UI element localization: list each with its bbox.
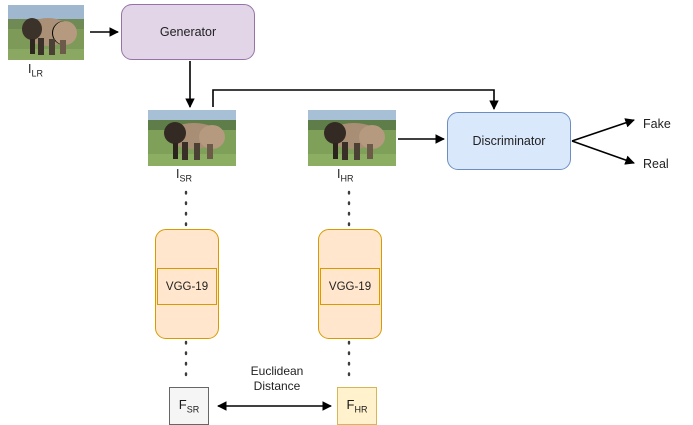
generator-node[interactable]: Generator <box>121 4 255 60</box>
vgg-sr-label: VGG-19 <box>166 281 208 293</box>
euclidean-distance-label: Euclidean Distance <box>229 364 325 394</box>
image-caption-ilr: ILR <box>28 62 43 79</box>
image-caption-isr: ISR <box>176 167 192 184</box>
vgg-hr-node[interactable]: VGG-19 <box>320 268 380 305</box>
feature-sr-label: FSR <box>179 397 199 415</box>
edge-discriminator-to-real <box>572 141 634 163</box>
feature-sr-subscript: SR <box>187 405 200 415</box>
image-thumbnail-isr <box>148 110 236 166</box>
feature-hr-label: FHR <box>347 397 368 415</box>
output-label-fake: Fake <box>643 117 671 131</box>
diagram-canvas <box>0 0 693 425</box>
feature-hr-subscript: HR <box>354 405 367 415</box>
discriminator-node[interactable]: Discriminator <box>447 112 571 170</box>
generator-label: Generator <box>160 25 216 40</box>
image-thumbnail-ihr <box>308 110 396 166</box>
discriminator-label: Discriminator <box>473 134 546 149</box>
vgg-hr-label: VGG-19 <box>329 281 371 293</box>
edge-generator-to-discriminator <box>213 90 494 109</box>
feature-hr-node[interactable]: FHR <box>337 387 377 425</box>
output-label-real: Real <box>643 157 669 171</box>
edge-discriminator-to-fake <box>572 120 634 141</box>
image-thumbnail-ilr <box>8 5 84 60</box>
image-caption-ihr: IHR <box>337 167 353 184</box>
vgg-sr-node[interactable]: VGG-19 <box>157 268 217 305</box>
feature-sr-node[interactable]: FSR <box>169 387 209 425</box>
